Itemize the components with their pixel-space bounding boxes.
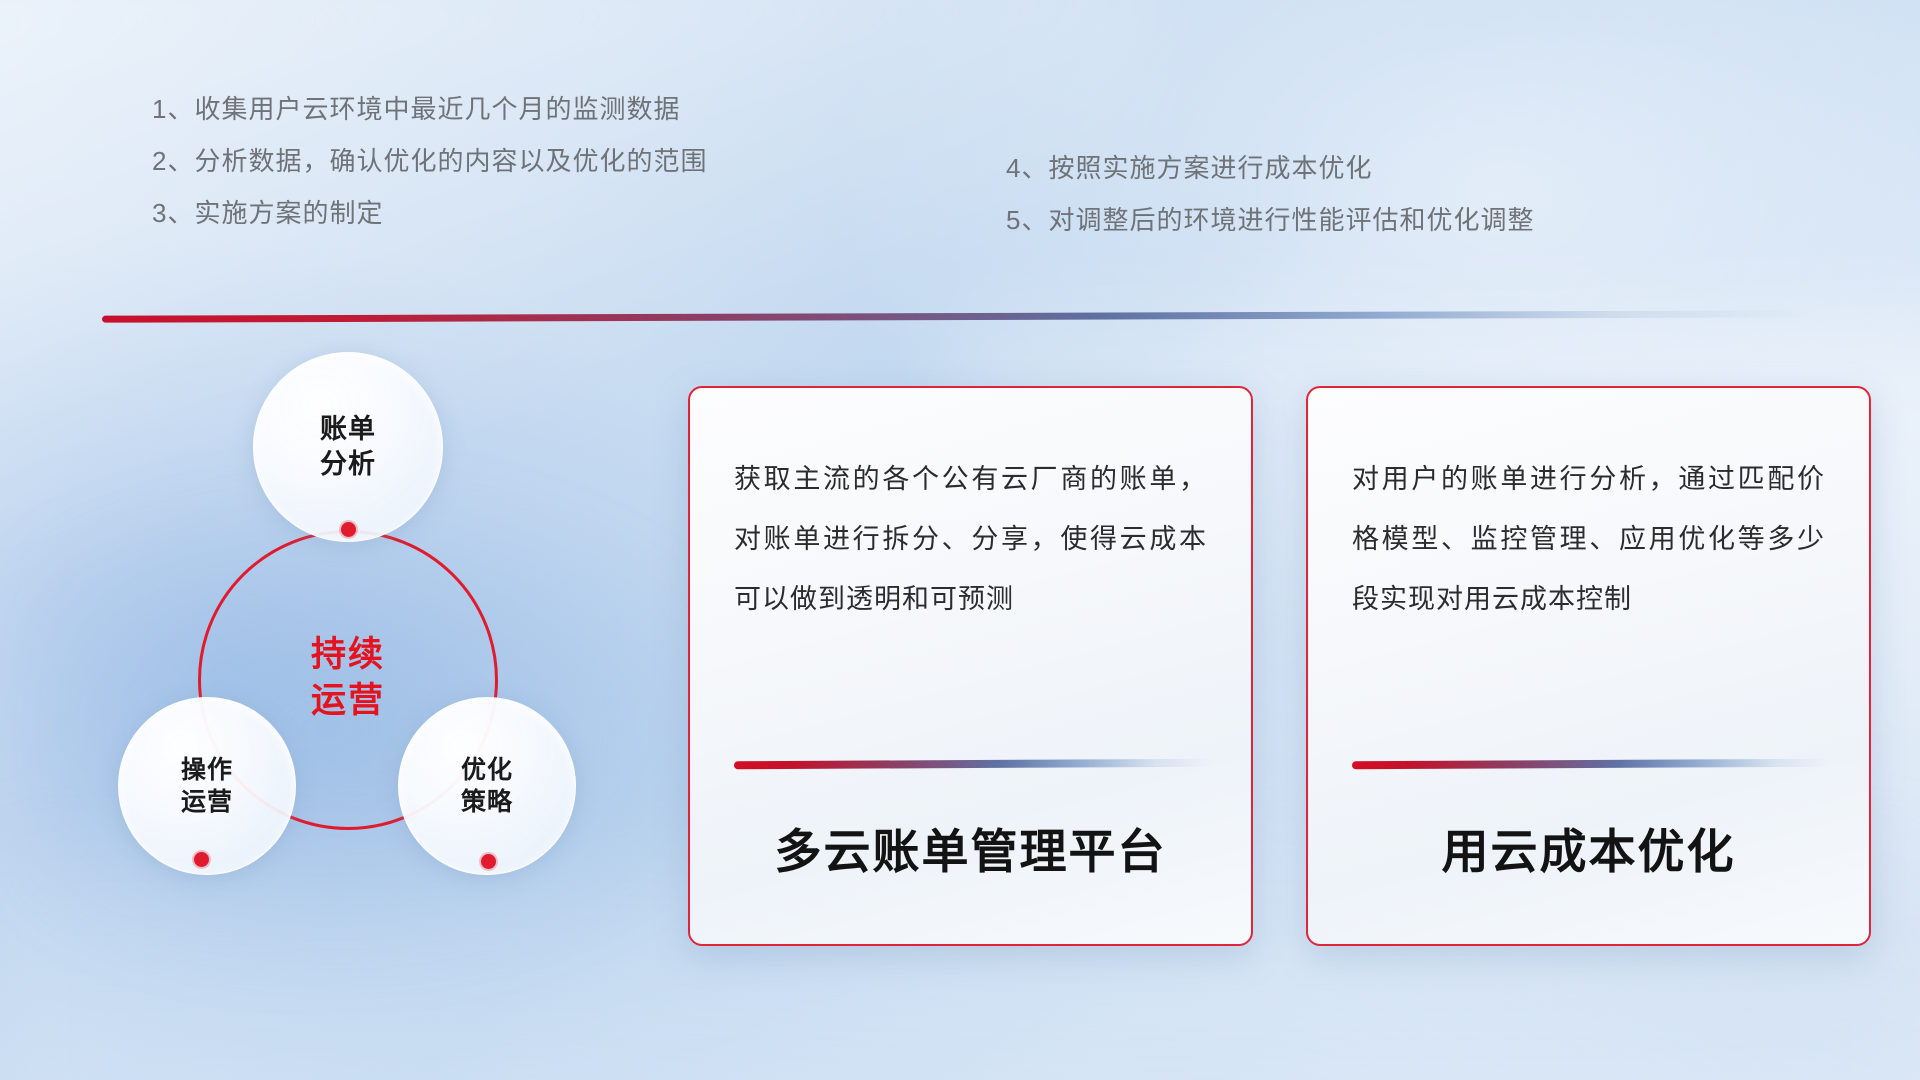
bullet-item-2: 2、分析数据，确认优化的内容以及优化的范围 [152, 148, 707, 174]
bullet-list-right: 4、按照实施方案进行成本优化 5、对调整后的环境进行性能评估和优化调整 [1006, 155, 1534, 259]
card-body-text: 对用户的账单进行分析，通过匹配价格模型、监控管理、应用优化等多少段实现对用云成本… [1352, 450, 1825, 630]
diagram-connector-dot [481, 854, 496, 869]
diagram-node-label: 优化策略 [461, 754, 513, 818]
bullet-item-3: 3、实施方案的制定 [152, 200, 707, 226]
content-card-cloud-cost-optimization[interactable]: 对用户的账单进行分析，通过匹配价格模型、监控管理、应用优化等多少段实现对用云成本… [1306, 386, 1871, 946]
bullet-item-5: 5、对调整后的环境进行性能评估和优化调整 [1006, 207, 1534, 233]
diagram-node-label: 账单分析 [320, 412, 376, 481]
header-divider [102, 310, 1816, 322]
card-body-text: 获取主流的各个公有云厂商的账单，对账单进行拆分、分享，使得云成本可以做到透明和可… [734, 450, 1207, 630]
diagram-node-bill-analysis[interactable]: 账单分析 [253, 352, 443, 542]
diagram-node-operations[interactable]: 操作运营 [118, 697, 296, 875]
card-divider [734, 759, 1212, 770]
diagram-connector-dot [194, 852, 209, 867]
bullet-item-1: 1、收集用户云环境中最近几个月的监测数据 [152, 96, 707, 122]
card-title: 多云账单管理平台 [690, 813, 1251, 882]
bullet-list-left: 1、收集用户云环境中最近几个月的监测数据 2、分析数据，确认优化的内容以及优化的… [152, 96, 707, 252]
circle-diagram: 账单分析 操作运营 优化策略 持续运营 [98, 352, 618, 912]
diagram-node-label: 操作运营 [181, 754, 233, 818]
diagram-node-optimization-strategy[interactable]: 优化策略 [398, 697, 576, 875]
diagram-center-label: 持续运营 [198, 632, 498, 723]
bullet-item-4: 4、按照实施方案进行成本优化 [1006, 155, 1534, 181]
card-divider [1352, 759, 1830, 770]
card-title: 用云成本优化 [1308, 813, 1869, 882]
content-card-multi-cloud-billing[interactable]: 获取主流的各个公有云厂商的账单，对账单进行拆分、分享，使得云成本可以做到透明和可… [688, 386, 1253, 946]
diagram-connector-dot [341, 522, 356, 537]
slide-canvas: 1、收集用户云环境中最近几个月的监测数据 2、分析数据，确认优化的内容以及优化的… [0, 0, 1920, 1080]
